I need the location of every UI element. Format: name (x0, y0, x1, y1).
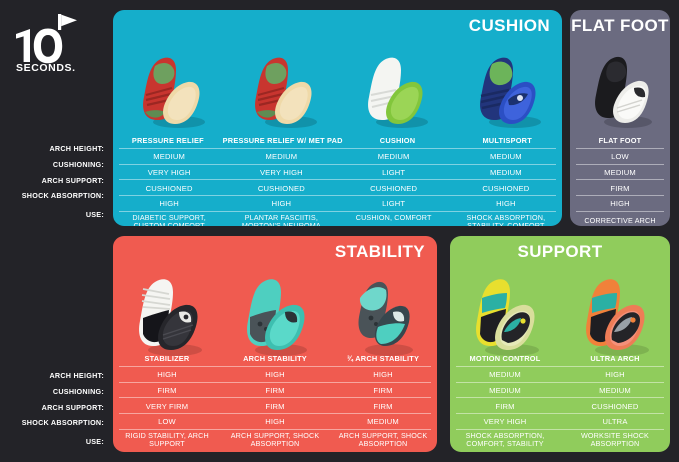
cell-arch-support-motion-control: FIRM (450, 402, 560, 411)
product-art-cushion (338, 50, 450, 130)
row-label-cushioning: CUSHIONING: (53, 160, 104, 169)
panel-title-stability: STABILITY (335, 242, 425, 262)
panel-stability[interactable]: STABILITY (113, 236, 437, 452)
cell-cushioning-pressure-relief-met-pad: VERY HIGH (225, 168, 337, 177)
panel-title-cushion: CUSHION (469, 16, 550, 36)
brand-logo: SECONDS. (10, 12, 102, 74)
cell-cushioning-pressure-relief: VERY HIGH (113, 168, 225, 177)
cell-shock-absorption-pressure-relief: HIGH (113, 199, 225, 208)
panel-title-support: SUPPORT (450, 242, 670, 262)
cell-cushioning-cushion: LIGHT (338, 168, 450, 177)
cell-arch-support-pressure-relief: CUSHIONED (113, 184, 225, 193)
product-art-pressure-relief (113, 50, 225, 130)
cell-cushioning-three-quarter-arch: FIRM (329, 386, 437, 395)
cell-use-motion-control: SHOCK ABSORPTION, COMFORT, STABILITY (450, 432, 560, 449)
product-art-multisport (450, 50, 562, 130)
col-header-stabilizer: STABILIZER (113, 354, 221, 363)
cell-use-three-quarter-arch: ARCH SUPPORT, SHOCK ABSORPTION (329, 432, 437, 449)
product-art-ultra-arch (560, 272, 670, 358)
cell-arch-height-flat-foot: LOW (570, 152, 670, 161)
cell-arch-support-ultra-arch: CUSHIONED (560, 402, 670, 411)
cell-arch-height-arch-stability: HIGH (221, 370, 329, 379)
cell-arch-height-stabilizer: HIGH (113, 370, 221, 379)
cell-use-pressure-relief: DIABETIC SUPPORT, CUSTOM COMFORT (113, 214, 225, 226)
cell-arch-support-pressure-relief-met-pad: CUSHIONED (225, 184, 337, 193)
panel-title-flat-foot: FLAT FOOT (570, 16, 670, 36)
cell-shock-absorption-three-quarter-arch: MEDIUM (329, 417, 437, 426)
col-header-motion-control: MOTION CONTROL (450, 354, 560, 363)
cell-arch-support-cushion: CUSHIONED (338, 184, 450, 193)
cell-arch-height-cushion: MEDIUM (338, 152, 450, 161)
cell-shock-absorption-multisport: HIGH (450, 199, 562, 208)
col-header-pressure-relief-met-pad: PRESSURE RELIEF W/ MET PAD (223, 136, 343, 145)
cell-cushioning-multisport: MEDIUM (450, 168, 562, 177)
cell-shock-absorption-stabilizer: LOW (113, 417, 221, 426)
cell-cushioning-arch-stability: FIRM (221, 386, 329, 395)
cell-shock-absorption-arch-stability: HIGH (221, 417, 329, 426)
cell-use-arch-stability: ARCH SUPPORT, SHOCK ABSORPTION (221, 432, 329, 449)
panel-support[interactable]: SUPPORT (450, 236, 670, 452)
cell-shock-absorption-motion-control: VERY HIGH (450, 417, 560, 426)
flag-icon (58, 14, 77, 30)
product-art-three-quarter-arch-stability (329, 272, 437, 358)
cell-arch-height-multisport: MEDIUM (450, 152, 562, 161)
col-header-ultra-arch: ULTRA ARCH (560, 354, 670, 363)
cell-use-stabilizer: RIGID STABILITY, ARCH SUPPORT (113, 432, 221, 449)
panel-cushion[interactable]: CUSHION (113, 10, 562, 226)
cell-arch-support-flat-foot: FIRM (570, 184, 670, 193)
cell-arch-height-pressure-relief-met-pad: MEDIUM (225, 152, 337, 161)
cell-cushioning-stabilizer: FIRM (113, 386, 221, 395)
cell-arch-support-arch-stability: FIRM (221, 402, 329, 411)
cell-cushioning-flat-foot: MEDIUM (570, 168, 670, 177)
product-art-motion-control (450, 272, 560, 358)
cell-shock-absorption-cushion: LIGHT (338, 199, 450, 208)
col-header-arch-stability: ARCH STABILITY (221, 354, 329, 363)
product-art-arch-stability (221, 272, 329, 358)
product-art-pressure-relief-met-pad (225, 50, 337, 130)
row-label-use-2: USE: (86, 437, 104, 446)
cell-shock-absorption-flat-foot: HIGH (570, 199, 670, 208)
col-header-pressure-relief: PRESSURE RELIEF (113, 136, 223, 145)
cell-arch-support-multisport: CUSHIONED (450, 184, 562, 193)
comparison-chart: SECONDS. ARCH HEIGHT: CUSHIONING: ARCH S… (0, 0, 679, 462)
col-header-multisport: MULTISPORT (452, 136, 562, 145)
cell-use-flat-foot: CORRECTIVE ARCH (570, 216, 670, 225)
cell-cushioning-motion-control: MEDIUM (450, 386, 560, 395)
col-header-three-quarter-arch-stability: ¾ ARCH STABILITY (329, 354, 437, 363)
panel-flat-foot[interactable]: FLAT FOOT FLAT FOOT LOW (570, 10, 670, 226)
row-label-arch-support: ARCH SUPPORT: (42, 176, 104, 185)
brand-subtext: SECONDS. (16, 62, 76, 74)
cell-arch-height-motion-control: MEDIUM (450, 370, 560, 379)
col-header-cushion: CUSHION (343, 136, 453, 145)
row-label-arch-support-2: ARCH SUPPORT: (42, 403, 104, 412)
cell-arch-height-pressure-relief: MEDIUM (113, 152, 225, 161)
cell-use-multisport: SHOCK ABSORPTION, STABILITY, COMFORT (450, 214, 562, 226)
col-header-flat-foot: FLAT FOOT (570, 136, 670, 145)
row-label-shock-absorption-2: SHOCK ABSORPTION: (22, 418, 104, 427)
cell-use-cushion: CUSHION, COMFORT (338, 214, 450, 222)
cell-use-ultra-arch: WORKSITE SHOCK ABSORPTION (560, 432, 670, 449)
cell-arch-support-three-quarter-arch: FIRM (329, 402, 437, 411)
row-label-cushioning-2: CUSHIONING: (53, 387, 104, 396)
row-label-shock-absorption: SHOCK ABSORPTION: (22, 191, 104, 200)
cell-arch-support-stabilizer: VERY FIRM (113, 402, 221, 411)
row-label-arch-height-2: ARCH HEIGHT: (49, 371, 104, 380)
row-label-use: USE: (86, 210, 104, 219)
product-art-flat-foot (570, 50, 670, 130)
cell-arch-height-three-quarter-arch: HIGH (329, 370, 437, 379)
cell-cushioning-ultra-arch: MEDIUM (560, 386, 670, 395)
cell-shock-absorption-pressure-relief-met-pad: HIGH (225, 199, 337, 208)
product-art-stabilizer (113, 272, 221, 358)
cell-shock-absorption-ultra-arch: ULTRA (560, 417, 670, 426)
cell-arch-height-ultra-arch: HIGH (560, 370, 670, 379)
row-label-arch-height: ARCH HEIGHT: (49, 144, 104, 153)
cell-use-pressure-relief-met-pad: PLANTAR FASCIITIS, MORTON'S NEUROMA (225, 214, 337, 226)
